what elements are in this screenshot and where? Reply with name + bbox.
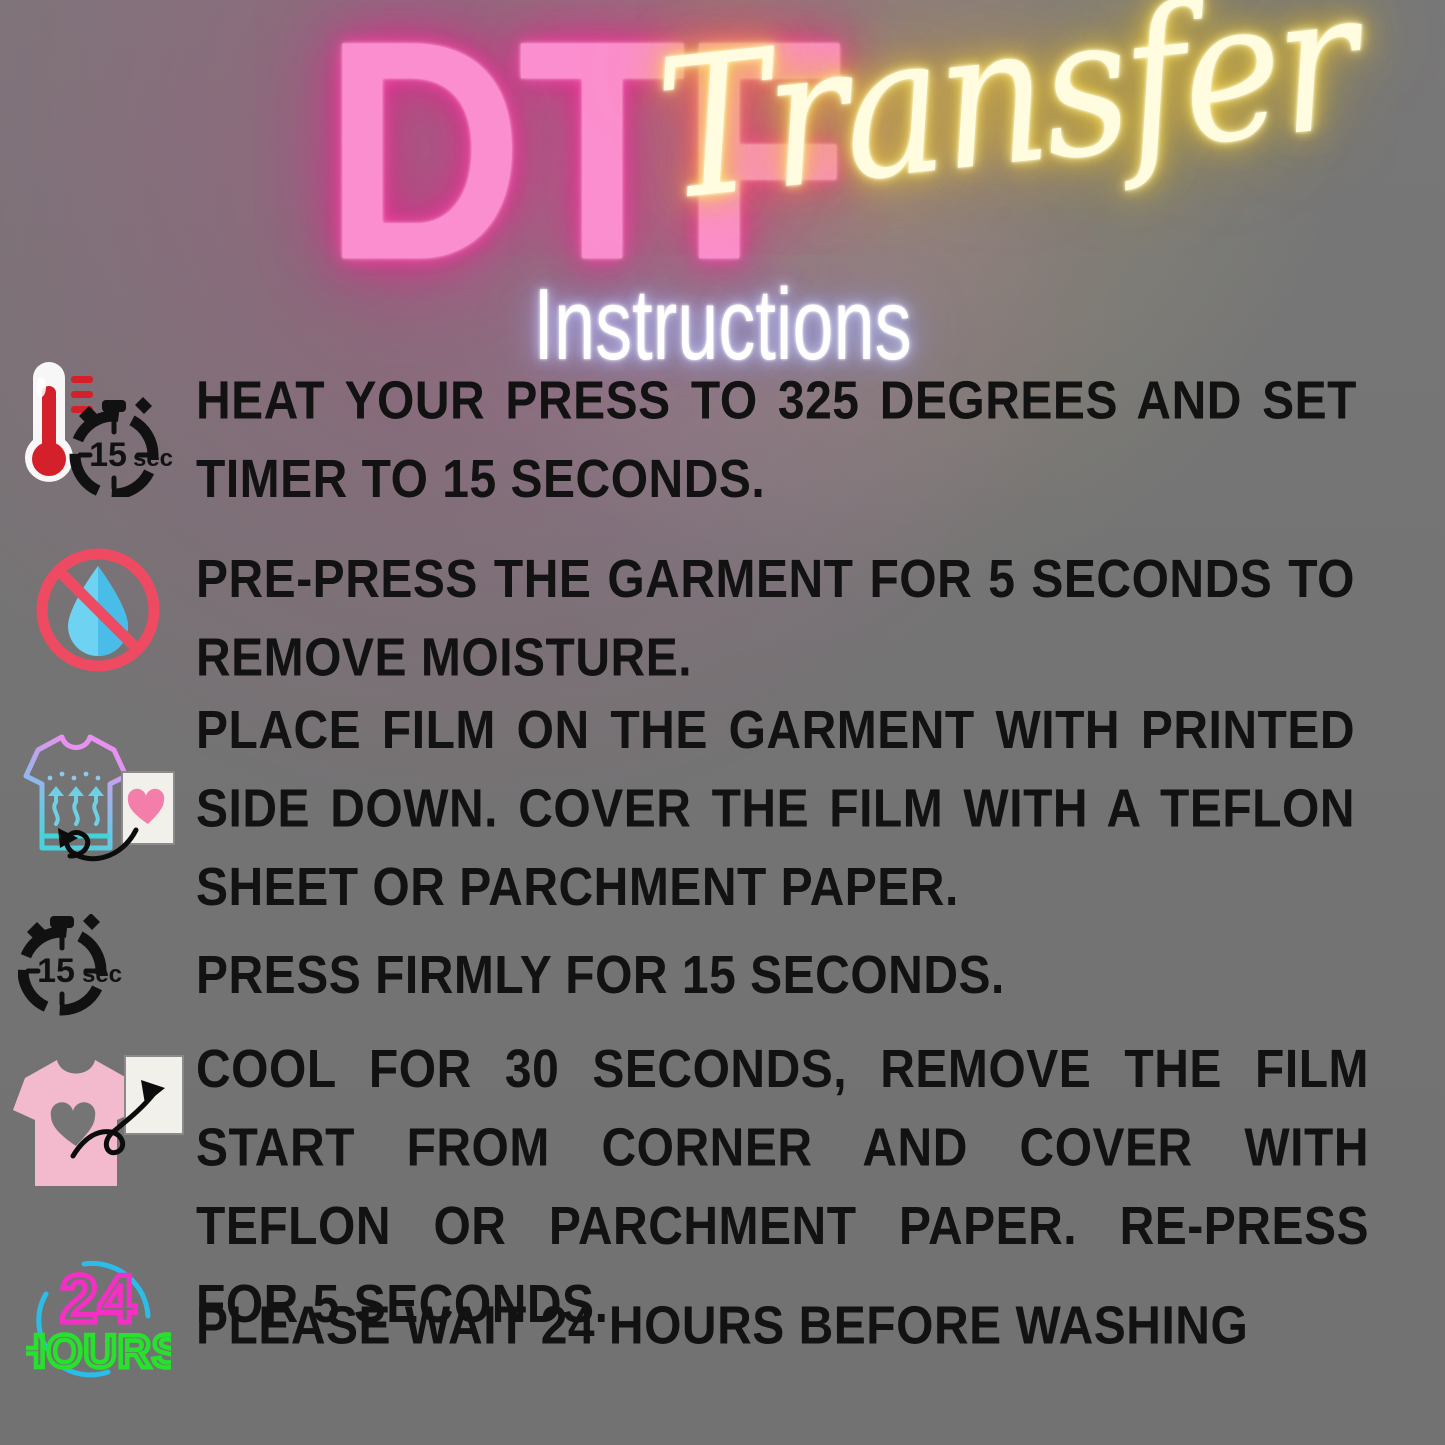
instruction-step-3: PLACE FILM ON THE GARMENT WITH PRINTED S… bbox=[0, 692, 1445, 910]
instruction-step-4: 15 sec PRESS FIRMLY FOR 15 SECONDS. bbox=[0, 910, 1445, 1022]
step-3-label: PLACE FILM ON THE GARMENT WITH PRINTED S… bbox=[196, 692, 1355, 927]
step-1-label: HEAT YOUR PRESS TO 325 DEGREES AND SET T… bbox=[196, 363, 1357, 520]
step-1-text: HEAT YOUR PRESS TO 325 DEGREES AND SET T… bbox=[196, 356, 1445, 520]
step-6-label: PLEASE WAIT 24 HOURS BEFORE WASHING bbox=[196, 1288, 1355, 1366]
poster-header: DTF Transfer Instructions bbox=[0, 0, 1445, 360]
svg-text:15: 15 bbox=[37, 952, 75, 990]
instruction-step-1: 15 sec HEAT YOUR PRESS TO 325 DEGREES AN… bbox=[0, 356, 1445, 530]
svg-text:sec: sec bbox=[82, 961, 122, 988]
instruction-step-2: PRE-PRESS THE GARMENT FOR 5 SECONDS TO R… bbox=[0, 530, 1445, 692]
step-2-text: PRE-PRESS THE GARMENT FOR 5 SECONDS TO R… bbox=[196, 530, 1445, 698]
svg-text:sec: sec bbox=[133, 445, 173, 472]
step-2-label: PRE-PRESS THE GARMENT FOR 5 SECONDS TO R… bbox=[196, 541, 1355, 698]
step-6-text: PLEASE WAIT 24 HOURS BEFORE WASHING bbox=[196, 1254, 1445, 1366]
instruction-step-6: 24 HOURS PLEASE WAIT 24 HOURS BEFORE WAS… bbox=[0, 1254, 1445, 1384]
step-4-text: PRESS FIRMLY FOR 15 SECONDS. bbox=[196, 910, 1445, 1015]
shirt-film-placement-icon bbox=[0, 692, 196, 900]
step-3-text: PLACE FILM ON THE GARMENT WITH PRINTED S… bbox=[196, 692, 1445, 927]
instruction-steps-list: 15 sec HEAT YOUR PRESS TO 325 DEGREES AN… bbox=[0, 356, 1445, 1384]
neon-24-hours-icon: 24 HOURS bbox=[0, 1254, 196, 1382]
title-transfer-script: Transfer bbox=[650, 0, 1363, 228]
stopwatch-icon: 15 sec bbox=[0, 910, 196, 1024]
svg-text:15: 15 bbox=[89, 436, 127, 474]
instruction-step-5: COOL FOR 30 SECONDS, REMOVE THE FILM STA… bbox=[0, 1022, 1445, 1254]
step-4-label: PRESS FIRMLY FOR 15 SECONDS. bbox=[196, 937, 1355, 1015]
shirt-peel-film-icon bbox=[0, 1022, 196, 1228]
svg-text:HOURS: HOURS bbox=[26, 1325, 171, 1377]
no-moisture-droplet-icon bbox=[0, 530, 196, 684]
thermometer-stopwatch-icon: 15 sec bbox=[0, 356, 196, 502]
dtf-instructions-poster: DTF Transfer Instructions bbox=[0, 0, 1445, 1445]
